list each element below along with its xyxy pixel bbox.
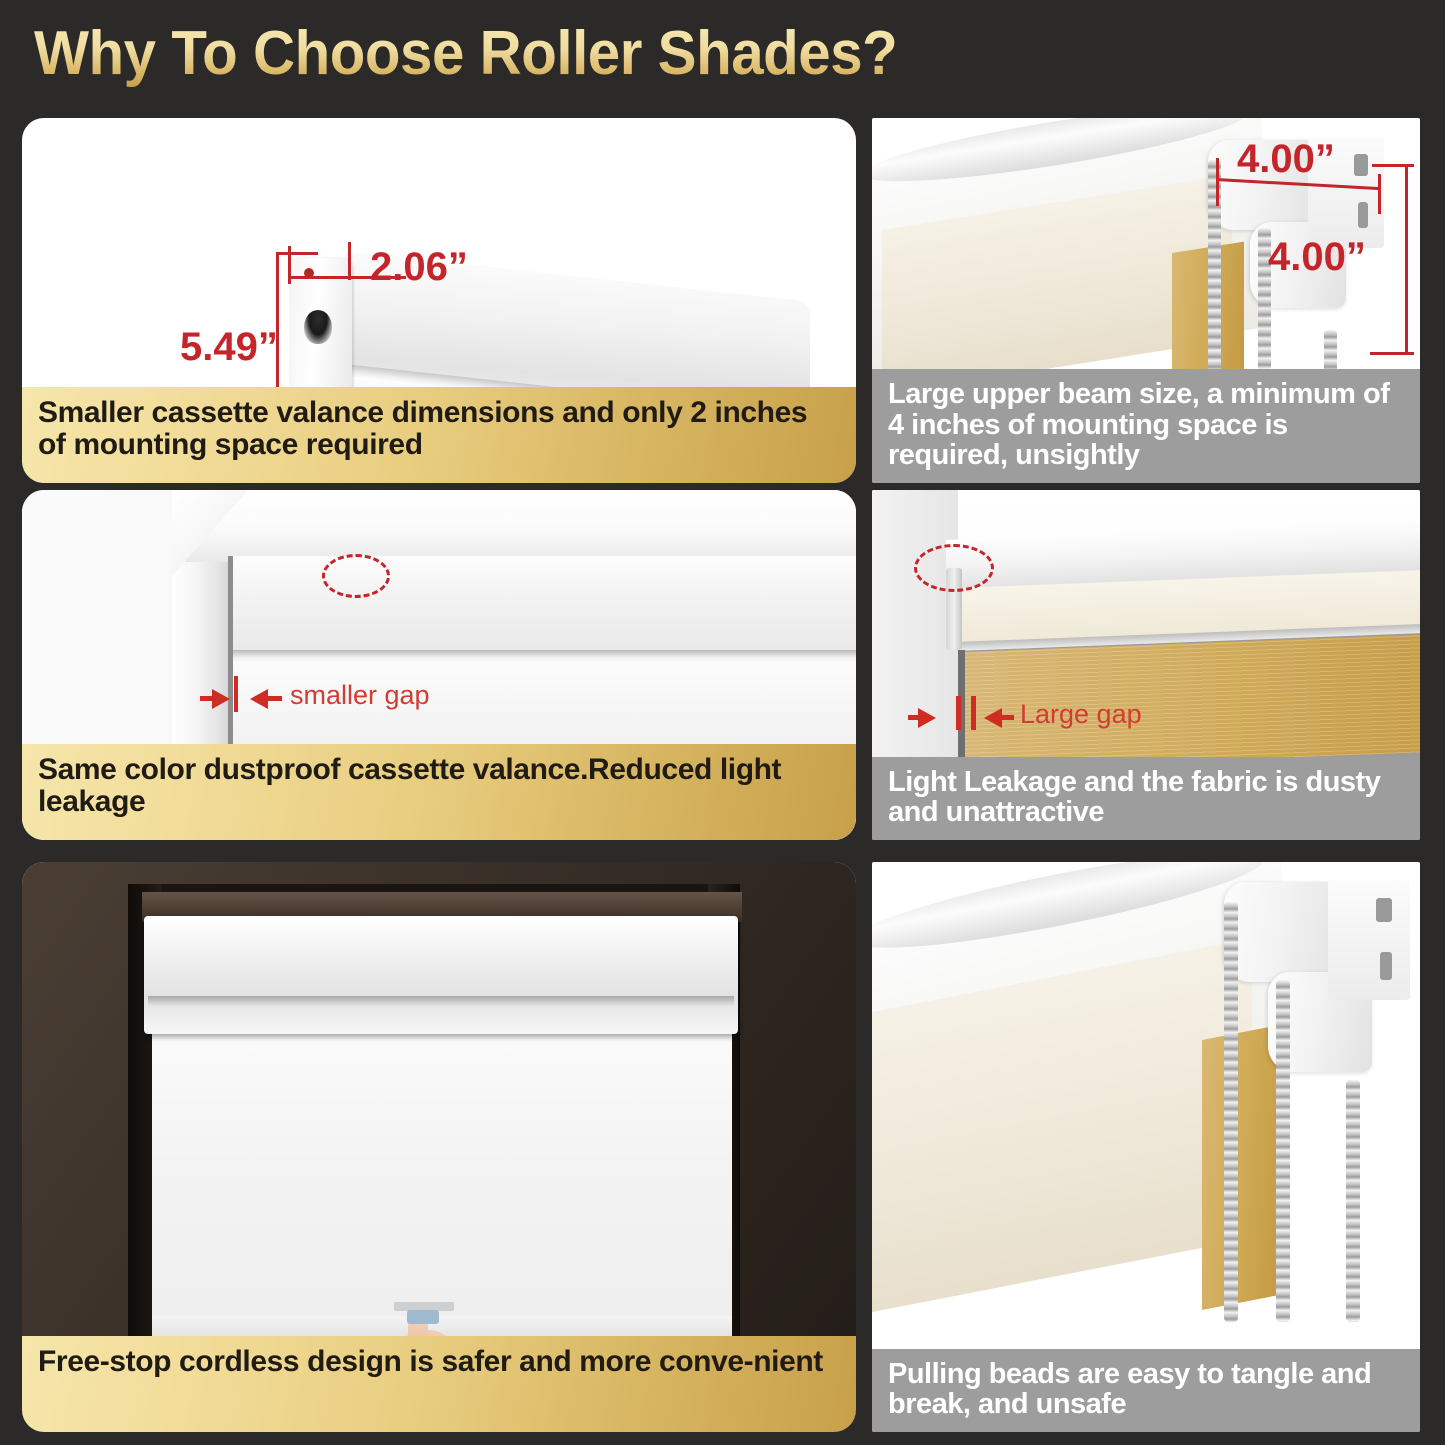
- highlight-ellipse: [322, 554, 390, 598]
- beam-height-tick-bottom: [1370, 352, 1414, 355]
- gap-arrow-left-stem: [200, 696, 214, 701]
- bracket-notch-top: [1354, 154, 1368, 176]
- bead-chain-left: [1224, 902, 1238, 1322]
- shade-pull-tab: [407, 1310, 439, 1324]
- panel-con-light-leakage: Large gap Light Leakage and the fabric i…: [872, 490, 1420, 840]
- gap-arrow-right-stem: [268, 696, 282, 701]
- beam-height-label: 4.00”: [1268, 235, 1366, 280]
- gap-measure-bar-b: [971, 696, 976, 730]
- beam-height-tick-top: [1372, 164, 1414, 167]
- bracket-notch-bottom: [1358, 202, 1368, 228]
- beam-height-line: [1405, 164, 1408, 354]
- panel-pro-dustproof-valance: smaller gap Same color dustproof cassett…: [22, 490, 856, 840]
- beam-width-tick-right: [1378, 174, 1381, 214]
- end-cap-slot: [304, 310, 332, 344]
- panel-con-beam-size: 4.00” 4.00” Large upper beam size, a min…: [872, 118, 1420, 483]
- beam-width-tick-left: [1216, 158, 1219, 206]
- gap-measure-bar-a: [956, 696, 961, 730]
- bead-chain-right: [1346, 1080, 1360, 1322]
- height-dim-tick-top: [276, 252, 318, 255]
- bracket-notch-top: [1376, 898, 1392, 922]
- beam-width-label: 4.00”: [1237, 137, 1335, 182]
- gap-label: Large gap: [1020, 699, 1142, 730]
- roller-shade-fabric: [152, 1022, 732, 1338]
- panel-pro-cordless-design: Free-stop cordless design is safer and m…: [22, 862, 856, 1432]
- panel-6-caption: Pulling beads are easy to tangle and bre…: [872, 1349, 1420, 1432]
- gap-label: smaller gap: [290, 680, 430, 711]
- panel-1-caption: Smaller cassette valance dimensions and …: [22, 387, 856, 483]
- panel-3-caption: Same color dustproof cassette valance.Re…: [22, 744, 856, 840]
- panel-4-caption: Light Leakage and the fabric is dusty an…: [872, 757, 1420, 840]
- roller-bracket-upper: [1224, 882, 1344, 982]
- panel-con-pulling-beads: Pulling beads are easy to tangle and bre…: [872, 862, 1420, 1432]
- infographic-root: Why To Choose Roller Shades? 2.06” 5.49”: [0, 0, 1445, 1445]
- panel-2-caption: Large upper beam size, a minimum of 4 in…: [872, 369, 1420, 483]
- bead-chain-left: [1208, 160, 1221, 400]
- roller-tan-fabric: [1202, 1025, 1280, 1310]
- panel-6-artwork: [872, 862, 1420, 1432]
- cassette-valance: [144, 916, 738, 1034]
- roller-bracket-plate: [1328, 880, 1410, 1000]
- width-dim-label: 2.06”: [370, 245, 468, 290]
- bracket-notch-bottom: [1380, 952, 1392, 980]
- gap-arrow-left: [918, 708, 936, 728]
- gap-arrow-right: [984, 708, 1002, 728]
- gap-arrow-right: [250, 689, 268, 709]
- page-title: Why To Choose Roller Shades?: [34, 18, 1068, 90]
- gap-measure-bar: [234, 676, 238, 712]
- panel-pro-cassette-size: 2.06” 5.49” Smaller cassette valance dim…: [22, 118, 856, 483]
- valance-groove: [148, 996, 734, 1006]
- bead-chain-middle: [1276, 980, 1290, 1322]
- gap-arrow-left-stem: [908, 715, 920, 720]
- window-frame-top: [172, 490, 856, 562]
- gap-arrow-right-stem: [1002, 715, 1014, 720]
- height-dim-label: 5.49”: [180, 325, 278, 370]
- width-dim-tick-right: [348, 242, 351, 280]
- gap-arrow-left: [212, 689, 230, 709]
- panel-5-caption: Free-stop cordless design is safer and m…: [22, 1336, 856, 1432]
- highlight-ellipse: [914, 544, 994, 592]
